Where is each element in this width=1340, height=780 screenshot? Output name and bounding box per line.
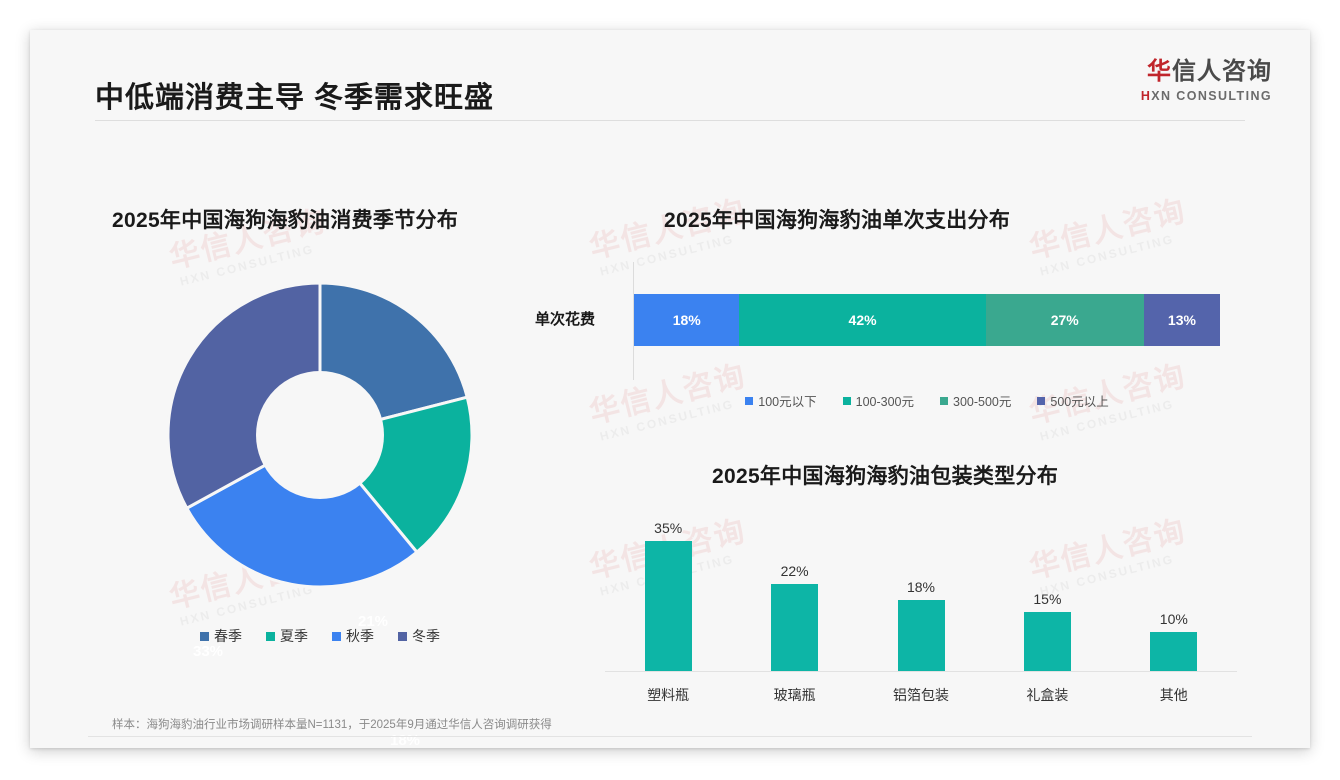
bar-category-label-5: 其他 [1114, 685, 1234, 705]
bar-category-label-4: 礼盒装 [987, 685, 1107, 705]
spend-legend-item-2[interactable]: 100-300元 [843, 391, 914, 410]
spend-legend-item-3[interactable]: 300-500元 [940, 391, 1011, 410]
bar-column-1[interactable]: 35% [645, 520, 692, 672]
legend-swatch-winter [398, 632, 407, 641]
watermark-cn: 华信人咨询 [1027, 196, 1190, 264]
footer-website[interactable]: www.hxrcon.com [1151, 746, 1242, 748]
legend-label-autumn: 秋季 [346, 626, 374, 646]
donut-hole [256, 371, 384, 499]
spend-legend-label-2: 100-300元 [856, 391, 914, 410]
spend-segment-3[interactable]: 27% [986, 294, 1144, 346]
bar-column-2[interactable]: 22% [771, 520, 818, 672]
spend-segment-4[interactable]: 13% [1144, 294, 1220, 346]
spend-legend-item-1[interactable]: 100元以下 [745, 391, 816, 410]
logo-accent-char: 华 [1147, 58, 1172, 85]
bar-category-label-1: 塑料瓶 [608, 685, 728, 705]
company-logo: 华信人咨询 HXN CONSULTING [1141, 58, 1272, 103]
spend-segment-1[interactable]: 18% [634, 294, 739, 346]
header-divider [95, 120, 1245, 121]
spend-legend-swatch-3 [940, 397, 948, 405]
spend-legend-swatch-4 [1037, 397, 1045, 405]
bar-column-5[interactable]: 10% [1150, 520, 1197, 672]
chart-title-packaging-bar: 2025年中国海狗海豹油包装类型分布 [712, 460, 1058, 490]
legend-item-autumn[interactable]: 秋季 [332, 626, 374, 646]
spend-legend-label-1: 100元以下 [758, 391, 816, 410]
logo-en-accent: H [1141, 89, 1151, 103]
chart-title-season-donut: 2025年中国海狗海豹油消费季节分布 [112, 204, 458, 234]
spend-chart-legend: 100元以下100-300元300-500元500元以上 [634, 391, 1220, 410]
spend-legend-swatch-1 [745, 397, 753, 405]
bar-rect-5[interactable] [1150, 632, 1197, 672]
legend-swatch-autumn [332, 632, 341, 641]
slide-canvas: 华信人咨询 HXN CONSULTING 华信人咨询 HXN CONSULTIN… [30, 30, 1310, 748]
legend-label-summer: 夏季 [280, 626, 308, 646]
legend-swatch-summer [266, 632, 275, 641]
bar-rect-3[interactable] [898, 600, 945, 672]
watermark-en: HXN CONSULTING [598, 227, 753, 278]
legend-label-winter: 冬季 [412, 626, 440, 646]
bar-value-label-2: 22% [781, 563, 809, 579]
bar-category-label-2: 玻璃瓶 [735, 685, 855, 705]
chart-title-spend-stacked: 2025年中国海狗海豹油单次支出分布 [664, 204, 1010, 234]
season-donut-chart: 21% 18% 28% 33% [130, 280, 510, 620]
bar-value-label-4: 15% [1033, 591, 1061, 607]
bar-category-label-3: 铝箔包装 [861, 685, 981, 705]
spend-legend-label-4: 500元以上 [1050, 391, 1108, 410]
spend-row-label: 单次花费 [535, 308, 595, 329]
legend-swatch-spring [200, 632, 209, 641]
watermark: 华信人咨询 HXN CONSULTING [1027, 196, 1193, 279]
legend-item-winter[interactable]: 冬季 [398, 626, 440, 646]
bar-value-label-5: 10% [1160, 611, 1188, 627]
packaging-bar-baseline [605, 671, 1237, 672]
logo-chinese-name: 华信人咨询 [1141, 58, 1272, 86]
footer-copyright: ©2025.11 HXR华信人咨询 [98, 746, 238, 748]
spend-legend-item-4[interactable]: 500元以上 [1037, 391, 1108, 410]
donut-label-summer: 18% [390, 732, 420, 748]
bar-column-3[interactable]: 18% [898, 520, 945, 672]
donut-svg [165, 280, 475, 590]
bar-value-label-1: 35% [654, 520, 682, 536]
spend-legend-swatch-2 [843, 397, 851, 405]
packaging-bar-chart: 35%22%18%15%10% [605, 520, 1237, 672]
spend-segment-2[interactable]: 42% [739, 294, 985, 346]
bar-rect-1[interactable] [645, 541, 692, 672]
legend-item-spring[interactable]: 春季 [200, 626, 242, 646]
watermark-en: HXN CONSULTING [1038, 227, 1193, 278]
footer-divider [88, 736, 1252, 737]
bar-column-4[interactable]: 15% [1024, 520, 1071, 672]
bar-rect-2[interactable] [771, 584, 818, 672]
logo-english-name: HXN CONSULTING [1141, 89, 1272, 103]
logo-en-rest: XN CONSULTING [1151, 89, 1272, 103]
spend-legend-label-3: 300-500元 [953, 391, 1011, 410]
sample-footnote: 样本：海狗海豹油行业市场调研样本量N=1131，于2025年9月通过华信人咨询调… [112, 716, 552, 732]
legend-label-spring: 春季 [214, 626, 242, 646]
logo-rest-chars: 信人咨询 [1172, 58, 1272, 85]
bar-value-label-3: 18% [907, 579, 935, 595]
season-donut-legend: 春季 夏季 秋季 冬季 [130, 626, 510, 646]
bar-rect-4[interactable] [1024, 612, 1071, 672]
page-title: 中低端消费主导 冬季需求旺盛 [95, 74, 494, 116]
legend-item-summer[interactable]: 夏季 [266, 626, 308, 646]
spend-stacked-bar: 18%42%27%13% [634, 294, 1220, 346]
